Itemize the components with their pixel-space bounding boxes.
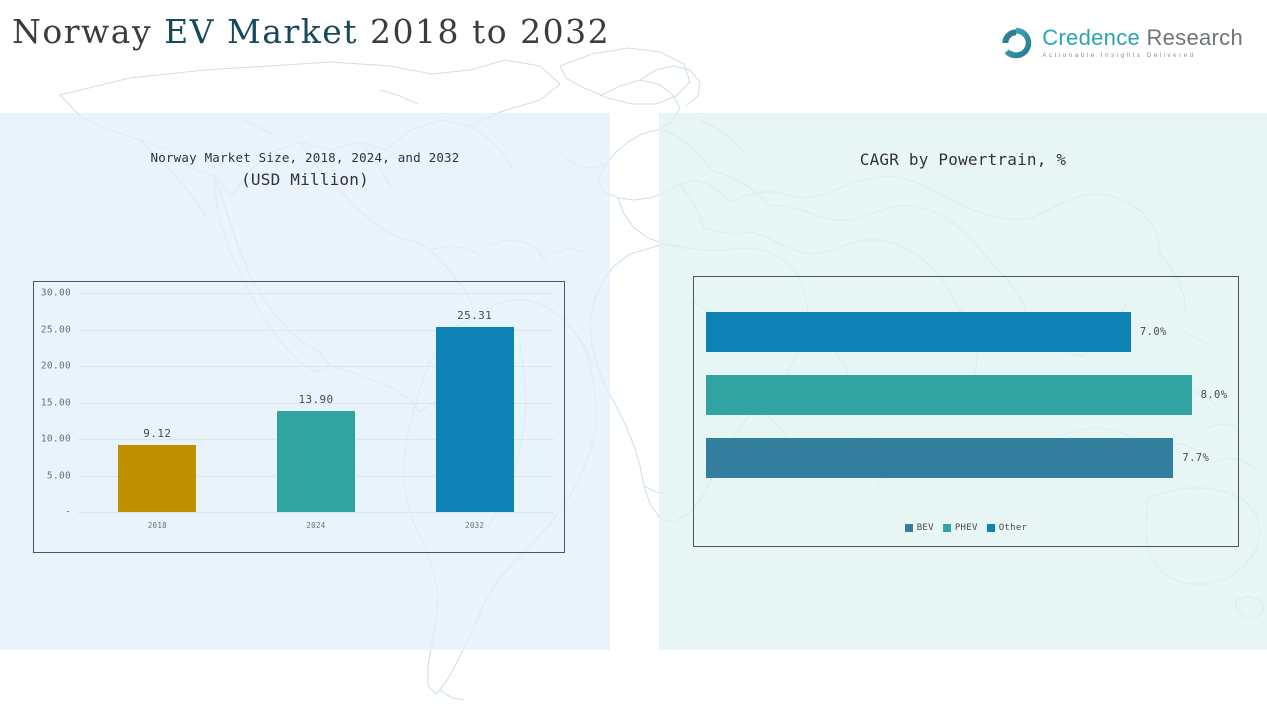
gridline (78, 512, 554, 513)
logo-tagline: Actionable Insights Delivered (1042, 53, 1243, 60)
column-value-label: 9.12 (143, 427, 171, 440)
logo-text: Credence Research Actionable Insights De… (1042, 27, 1243, 60)
y-axis-tick-label: 5.00 (47, 470, 71, 481)
page-title-part-1: Norway (12, 12, 164, 51)
page-title: Norway EV Market 2018 to 2032 (12, 12, 610, 51)
y-axis-tick-label: 30.00 (41, 288, 71, 299)
left-chart-title: Norway Market Size, 2018, 2024, and 2032… (0, 150, 610, 189)
legend-swatch (987, 524, 995, 532)
bar-value-label: 7.0% (1140, 326, 1167, 338)
legend-swatch (943, 524, 951, 532)
bar-row: 7.7% (706, 438, 1228, 478)
bar-chart-circle-icon (999, 26, 1033, 60)
legend-label: Other (999, 523, 1028, 533)
right-chart-block: CAGR by Powertrain, % (659, 150, 1267, 169)
header: Norway EV Market 2018 to 2032 Credence (0, 0, 1267, 113)
bar-value-label: 8.0% (1201, 389, 1228, 401)
y-axis-tick-label: 20.00 (41, 361, 71, 372)
legend-item[interactable]: BEV (905, 523, 934, 533)
y-axis-tick-label: - (65, 507, 71, 518)
market-size-column-chart[interactable]: 30.0025.0020.0015.0010.005.00-9.12201813… (33, 281, 565, 553)
page-title-accent: EV Market (164, 12, 358, 51)
legend-item[interactable]: PHEV (943, 523, 978, 533)
x-axis-tick-label: 2024 (277, 521, 355, 530)
column-value-label: 13.90 (298, 393, 333, 406)
column-slot: 9.122018 (118, 293, 196, 512)
infographic-page: Norway EV Market 2018 to 2032 Credence (0, 0, 1267, 713)
y-axis-tick-label: 15.00 (41, 397, 71, 408)
left-chart-title-line1: Norway Market Size, 2018, 2024, and 2032 (0, 150, 610, 165)
legend-label: PHEV (955, 523, 978, 533)
left-chart-block: Norway Market Size, 2018, 2024, and 2032… (0, 150, 610, 189)
column-bar[interactable] (436, 327, 514, 512)
horizontal-bar[interactable] (706, 312, 1131, 352)
column-bar[interactable] (277, 411, 355, 512)
horizontal-bar[interactable] (706, 375, 1192, 415)
right-chart-legend: BEVPHEVOther (694, 523, 1238, 533)
x-axis-tick-label: 2018 (118, 521, 196, 530)
right-chart-title-line1: CAGR by Powertrain, % (659, 150, 1267, 169)
column-bar[interactable] (118, 445, 196, 512)
legend-item[interactable]: Other (987, 523, 1028, 533)
right-chart-plot-area: 7.0%8.0%7.7% (706, 301, 1228, 489)
horizontal-bar[interactable] (706, 438, 1173, 478)
y-axis-tick-label: 25.00 (41, 324, 71, 335)
cagr-bar-chart[interactable]: 7.0%8.0%7.7% BEVPHEVOther (693, 276, 1239, 547)
column-value-label: 25.31 (457, 309, 492, 322)
column-slot: 13.902024 (277, 293, 355, 512)
left-chart-title-line2: (USD Million) (0, 170, 610, 189)
right-chart-title: CAGR by Powertrain, % (659, 150, 1267, 169)
page-title-part-2: 2018 to 2032 (358, 12, 610, 51)
x-axis-tick-label: 2032 (436, 521, 514, 530)
y-axis-tick-label: 10.00 (41, 434, 71, 445)
bar-value-label: 7.7% (1182, 452, 1209, 464)
column-slot: 25.312032 (436, 293, 514, 512)
bar-row: 7.0% (706, 312, 1228, 352)
credence-research-logo[interactable]: Credence Research Actionable Insights De… (999, 26, 1243, 60)
bar-row: 8.0% (706, 375, 1228, 415)
left-chart-plot-area: 30.0025.0020.0015.0010.005.00-9.12201813… (78, 293, 554, 512)
logo-name-accent: Credence (1042, 25, 1140, 50)
legend-label: BEV (917, 523, 934, 533)
logo-name-rest: Research (1140, 25, 1243, 50)
logo-name: Credence Research (1042, 27, 1243, 49)
legend-swatch (905, 524, 913, 532)
